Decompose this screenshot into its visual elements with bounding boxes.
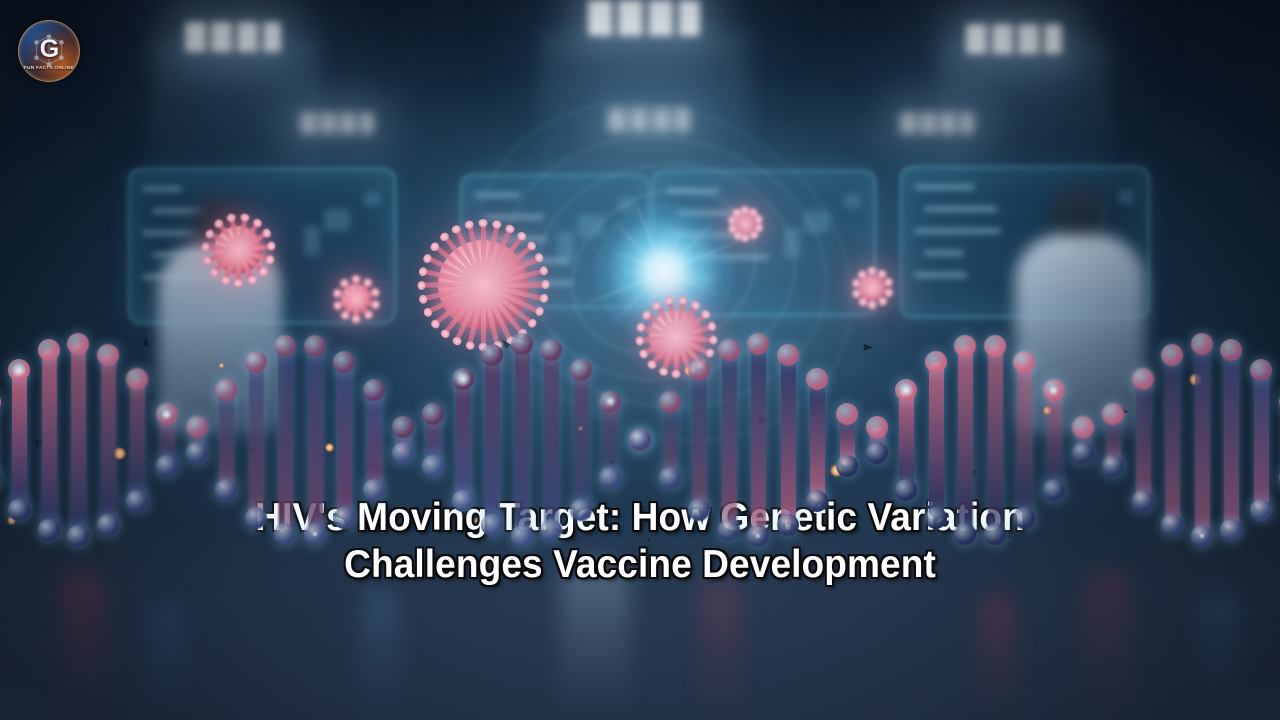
dna-backbone-node (186, 442, 208, 464)
holo-text-line (914, 272, 967, 278)
ember-spark (219, 363, 224, 368)
dna-rung (456, 379, 471, 500)
dna-backbone-node (836, 455, 858, 477)
dna-rung (515, 344, 530, 536)
dna-backbone-node (126, 368, 148, 390)
dna-rung (692, 370, 707, 510)
ceiling-light (966, 24, 1062, 54)
dna-backbone-node (392, 416, 414, 438)
dna-rung (574, 370, 589, 510)
dna-backbone-node (540, 339, 562, 361)
dna-backbone-node (97, 514, 119, 536)
floor-reflection (60, 570, 106, 720)
dna-backbone-node (836, 403, 858, 425)
dna-backbone-node (599, 467, 621, 489)
ember-spark (325, 443, 334, 452)
dna-rung (71, 344, 86, 536)
holo-text-line (914, 228, 1001, 234)
dna-backbone-node (866, 442, 888, 464)
dna-backbone-node (688, 499, 710, 521)
dna-backbone-node (422, 403, 444, 425)
dna-rung (1224, 350, 1239, 531)
dna-backbone-node (422, 455, 444, 477)
dna-backbone-node (777, 514, 799, 536)
dna-backbone-node (1072, 416, 1094, 438)
holo-text-line (142, 186, 182, 192)
dna-rung (101, 355, 116, 525)
floor-reflection (980, 594, 1016, 720)
dna-backbone-node (245, 351, 267, 373)
dna-backbone-node (511, 525, 533, 547)
dna-backbone-node (1013, 507, 1035, 529)
dna-backbone-node (1072, 442, 1094, 464)
dna-backbone-node (1191, 333, 1213, 355)
holo-text-line (914, 184, 975, 190)
holo-data-block (304, 226, 320, 256)
floor-reflection (150, 600, 184, 720)
dna-rung (1165, 355, 1180, 525)
dna-rung (810, 379, 825, 500)
ceiling-light (588, 0, 700, 36)
dna-backbone-node (245, 507, 267, 529)
dna-backbone-node (392, 442, 414, 464)
dna-rung (249, 362, 264, 519)
dna-backbone-node (688, 359, 710, 381)
dna-backbone-node (126, 490, 148, 512)
dna-rung (219, 390, 234, 490)
dna-backbone-node (363, 379, 385, 401)
ceiling-light (900, 112, 974, 134)
dna-backbone-node (156, 455, 178, 477)
virus-particle (859, 275, 885, 301)
dna-backbone-node (806, 368, 828, 390)
highlight-glow (312, 531, 318, 537)
floor-reflection (1200, 590, 1240, 720)
site-logo[interactable]: G FUN FACTS ONLINE (18, 20, 80, 82)
hero-banner: G FUN FACTS ONLINE HIV's Moving Target: … (0, 0, 1280, 720)
dna-backbone-node (1132, 368, 1154, 390)
debris-shard (861, 341, 873, 352)
dna-rung (781, 355, 796, 525)
highlight-glow (755, 533, 761, 539)
dna-rung (1254, 370, 1269, 510)
dna-rung (337, 362, 352, 519)
dna-rung (958, 346, 973, 534)
dna-backbone-node (925, 507, 947, 529)
dna-backbone-node (452, 490, 474, 512)
ceiling-light (300, 112, 374, 134)
dna-backbone-node (1132, 490, 1154, 512)
floor-reflection (360, 588, 400, 720)
dna-backbone-node (1161, 344, 1183, 366)
dna-backbone-node (481, 344, 503, 366)
virus-particle (214, 226, 262, 274)
dna-backbone-node (67, 525, 89, 547)
floor-reflection (560, 560, 630, 720)
logo-wordmark: FUN FACTS ONLINE (24, 65, 74, 70)
dna-rung (485, 355, 500, 525)
floor-reflection (700, 580, 742, 720)
dna-backbone-node (570, 499, 592, 521)
dna-backbone-node (215, 479, 237, 501)
dna-backbone-node (1220, 339, 1242, 361)
dna-backbone-node (97, 344, 119, 366)
logo-letter: G (40, 37, 58, 62)
dna-rung (308, 346, 323, 534)
dna-backbone-node (511, 333, 533, 355)
dna-backbone-node (1250, 359, 1272, 381)
dna-rung (1136, 379, 1151, 500)
dna-rung (899, 390, 914, 490)
highlight-glow (11, 362, 27, 378)
dna-backbone-node (363, 479, 385, 501)
dna-rung (544, 350, 559, 531)
dna-rung (751, 344, 766, 536)
dna-backbone-node (333, 351, 355, 373)
holo-data-block (844, 194, 860, 208)
laboratory-floor (0, 530, 1280, 720)
dna-backbone-node (1250, 499, 1272, 521)
dna-rung (1017, 362, 1032, 519)
dna-backbone-node (984, 523, 1006, 545)
dna-backbone-node (304, 335, 326, 357)
dna-rung (12, 370, 27, 510)
holo-data-block (364, 192, 380, 206)
dna-backbone-node (866, 416, 888, 438)
dna-backbone-node (1043, 479, 1065, 501)
dna-backbone-node (186, 416, 208, 438)
holo-text-line (924, 250, 964, 256)
dna-rung (278, 346, 293, 534)
dna-backbone-node (333, 507, 355, 529)
dna-rung (42, 350, 57, 531)
dna-backbone-node (629, 429, 651, 451)
dna-backbone-node (38, 339, 60, 361)
holo-text-line (924, 206, 998, 212)
virus-particle (734, 213, 756, 235)
dna-rung (1195, 344, 1210, 536)
dna-rung (1047, 390, 1062, 490)
dna-backbone-node (718, 339, 740, 361)
highlight-glow (1048, 385, 1059, 396)
dna-rung (722, 350, 737, 531)
highlight-glow (455, 371, 471, 387)
dna-backbone-node (0, 467, 1, 489)
debris-shard (140, 337, 151, 349)
dna-backbone-node (38, 519, 60, 541)
dna-backbone-node (659, 467, 681, 489)
dna-backbone-node (1013, 351, 1035, 373)
dna-backbone-node (0, 391, 1, 413)
holo-data-block (324, 209, 350, 231)
dna-rung (929, 362, 944, 519)
dna-rung (988, 346, 1003, 534)
dna-backbone-node (718, 519, 740, 541)
dna-backbone-node (777, 344, 799, 366)
dna-backbone-node (1102, 403, 1124, 425)
dna-backbone-node (570, 359, 592, 381)
dna-backbone-node (925, 351, 947, 373)
dna-backbone-node (806, 490, 828, 512)
highlight-glow (1199, 533, 1205, 539)
dna-backbone-node (984, 335, 1006, 357)
dna-backbone-node (1102, 455, 1124, 477)
dna-rung (130, 379, 145, 500)
dna-rung (367, 390, 382, 490)
dna-backbone-node (8, 499, 30, 521)
floor-reflection (1085, 570, 1131, 720)
ceiling-light (185, 22, 281, 52)
dna-backbone-node (659, 391, 681, 413)
dna-backbone-node (895, 479, 917, 501)
